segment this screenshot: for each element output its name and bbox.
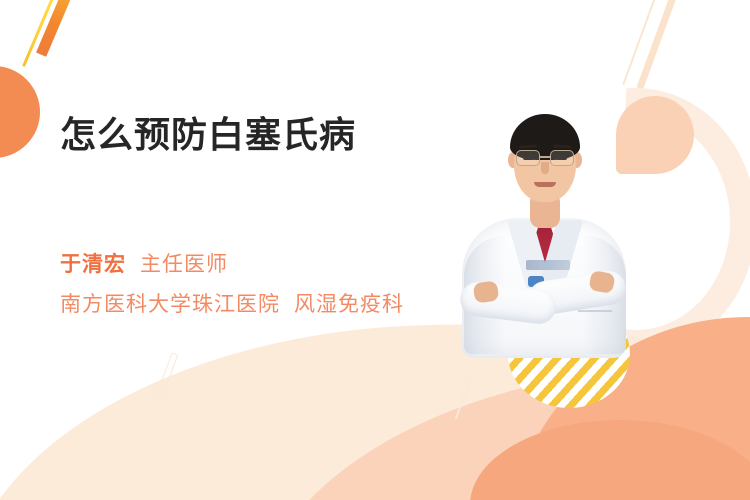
- stripe-orange-topleft-decoration: [36, 0, 79, 57]
- department-name: 风湿免疫科: [294, 288, 404, 318]
- nose: [541, 162, 549, 174]
- eyeglasses-lens-right: [550, 150, 574, 166]
- coat-pocket: [578, 310, 612, 312]
- eyeglasses-bridge: [540, 156, 550, 158]
- hospital-name: 南方医科大学珠江医院: [60, 288, 280, 318]
- stripe-cream-midright-decoration: [455, 379, 471, 419]
- doctor-byline: 于清宏 主任医师: [60, 248, 228, 278]
- doctor-name: 于清宏: [60, 248, 126, 278]
- stripe-yellow-topleft-decoration: [22, 0, 61, 67]
- doctor-portrait: [456, 96, 632, 352]
- doctor-affiliation: 南方医科大学珠江医院 风湿免疫科: [60, 288, 404, 318]
- page-title: 怎么预防白塞氏病: [60, 112, 480, 158]
- stripe-cream-topright-decoration: [636, 0, 680, 90]
- title-block: 怎么预防白塞氏病: [60, 112, 480, 158]
- doctor-rank: 主任医师: [140, 248, 228, 278]
- wave-deep-lobe-decoration: [470, 420, 750, 500]
- wave-mid-decoration: [239, 348, 750, 500]
- wave-light-decoration: [0, 301, 750, 500]
- stripe-cream-topright-thin-decoration: [622, 0, 659, 85]
- coat-embroidery: [526, 260, 570, 270]
- stripe-cream-midleft-decoration: [155, 352, 179, 401]
- video-thumbnail-card: 怎么预防白塞氏病 于清宏 主任医师 南方医科大学珠江医院 风湿免疫科: [0, 0, 750, 500]
- eyeglasses-lens-left: [516, 150, 540, 166]
- mouth: [534, 182, 556, 187]
- circle-orange-left-decoration: [0, 66, 40, 158]
